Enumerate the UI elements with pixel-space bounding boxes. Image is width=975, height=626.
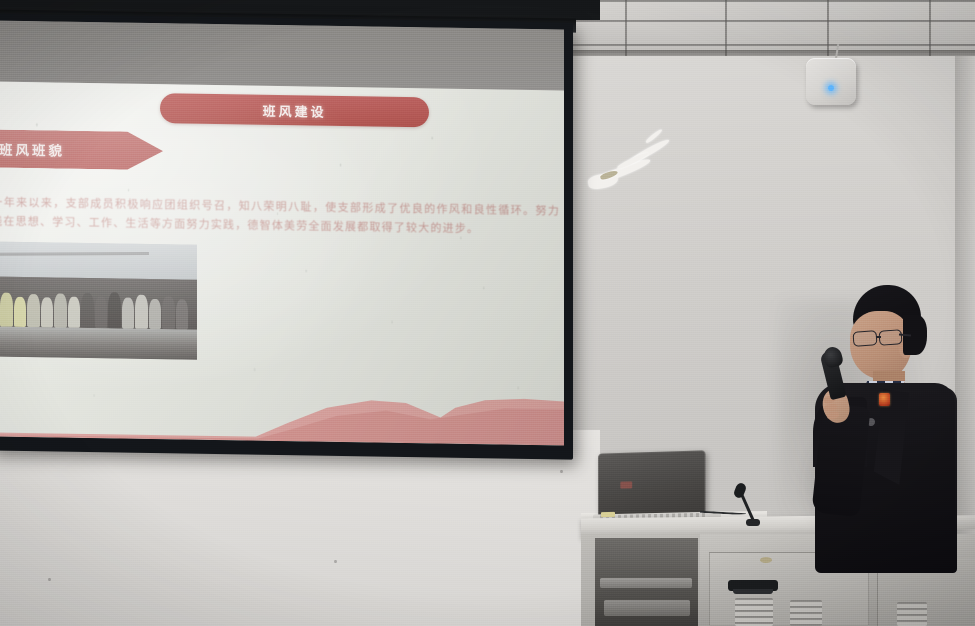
podium-equipment-unit-lower (604, 600, 690, 616)
slide-section-tag-text: 班风班貌 (0, 139, 65, 160)
glasses-left-lens-icon (853, 330, 878, 347)
podium-equipment-unit-upper (600, 578, 692, 588)
wifi-access-point-icon (806, 58, 856, 105)
projector-screen: 班风建设 班风班貌 自一年来以来，支部成员积极响应团组织号召，知八荣明八耻，使支… (0, 13, 573, 459)
glasses-right-lens-icon (879, 329, 903, 346)
projection-blank-band (0, 20, 564, 92)
slide-group-photo (0, 241, 197, 360)
laptop-screen-lid[interactable] (598, 450, 706, 520)
slide-wave-decoration (0, 374, 564, 445)
access-point-led (828, 85, 834, 91)
classroom-photo-scene: 班风建设 班风班貌 自一年来以来，支部成员积极响应团组织号召，知八荣明八耻，使支… (0, 0, 975, 626)
wall-blemish (334, 560, 337, 563)
wall-blemish (560, 470, 563, 473)
lapel-pin-badge-icon (879, 393, 890, 406)
cabinet-stain (760, 557, 772, 563)
cabinet-vent-slots (790, 600, 822, 626)
wave-shape-icon (0, 374, 564, 445)
glasses-bridge (876, 336, 881, 338)
laptop-sticker (601, 512, 615, 517)
cabinet-vent-slots (735, 598, 773, 626)
back-wall-left (0, 430, 600, 626)
projection-surface: 班风建设 班风班貌 自一年来以来，支部成员积极响应团组织号召，知八荣明八耻，使支… (0, 20, 564, 445)
laptop-logo-icon (620, 481, 632, 488)
slide-title-text: 班风建设 (263, 100, 327, 120)
group-photo-crowd (0, 275, 197, 329)
slide-title-banner: 班风建设 (160, 93, 429, 127)
cabinet-handle-icon[interactable] (728, 580, 778, 591)
wall-blemish (48, 578, 51, 581)
gooseneck-mic-base (746, 519, 760, 526)
presentation-slide: 班风建设 班风班貌 自一年来以来，支部成员积极响应团组织号召，知八荣明八耻，使支… (0, 81, 564, 445)
presenter-figure (795, 285, 960, 570)
cabinet-vent-slots (897, 602, 927, 626)
